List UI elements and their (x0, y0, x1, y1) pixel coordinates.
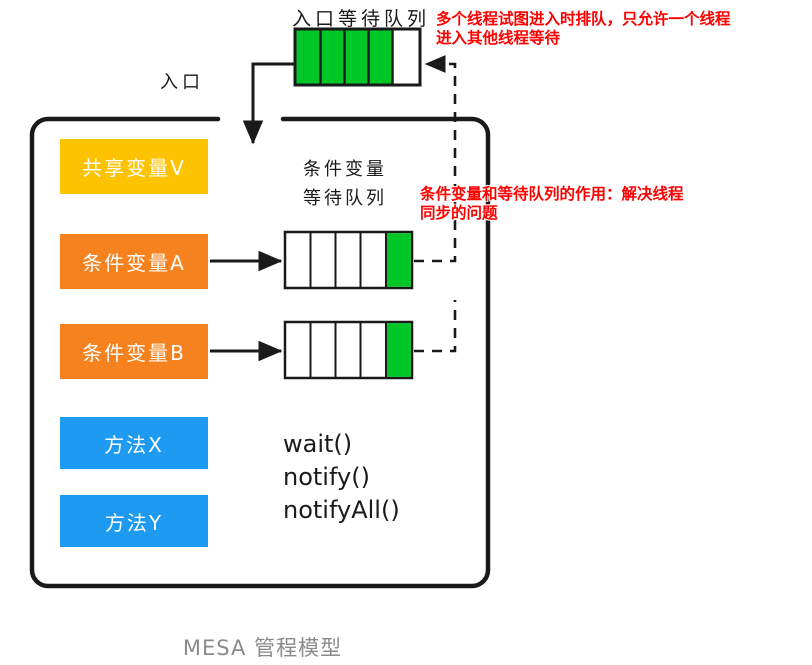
block-condition-variable-b[interactable]: 条件变量B (60, 324, 208, 379)
block-condition-variable-b-label: 条件变量B (82, 337, 186, 366)
block-condition-variable-a[interactable]: 条件变量A (60, 234, 208, 289)
block-method-x-label: 方法X (104, 429, 164, 458)
block-shared-variable[interactable]: 共享变量V (60, 139, 208, 194)
queue-a-cell-filled (386, 233, 411, 287)
diagram-canvas: 入口等待队列 入口 条件变量 等待队列 共享变量V 条件变量A 条件变量B 方法… (0, 0, 812, 665)
notify-return-path-b (414, 300, 455, 351)
queue-b-cell-filled (386, 323, 411, 377)
block-method-x[interactable]: 方法X (60, 417, 208, 469)
monitor-methods-list: wait() notify() notifyAll() (283, 428, 400, 527)
annotation-entry-queue-note: 多个线程试图进入时排队，只允许一个线程 进入其他线程等待 (436, 10, 731, 48)
condition-queue-label: 条件变量 等待队列 (303, 155, 387, 213)
entry-queue-cell-filled (345, 31, 369, 84)
block-method-y[interactable]: 方法Y (60, 495, 208, 547)
diagram-caption: MESA 管程模型 (0, 632, 525, 662)
block-condition-variable-a-label: 条件变量A (82, 247, 186, 276)
notify-return-path-a (414, 64, 455, 261)
block-method-y-label: 方法Y (105, 507, 163, 536)
entrance-label: 入口 (160, 68, 204, 94)
annotation-condition-variable-note: 条件变量和等待队列的作用：解决线程 同步的问题 (420, 185, 684, 223)
entry-wait-queue (295, 29, 420, 85)
entrance-arrow (253, 64, 295, 143)
entry-queue-cell-filled (297, 31, 321, 84)
block-shared-variable-label: 共享变量V (82, 152, 186, 181)
entry-queue-cell-filled (321, 31, 345, 84)
entry-queue-label: 入口等待队列 (292, 4, 430, 31)
entry-queue-cell-filled (369, 31, 393, 84)
condition-wait-queue-a (285, 232, 412, 288)
condition-wait-queue-b (285, 322, 412, 378)
